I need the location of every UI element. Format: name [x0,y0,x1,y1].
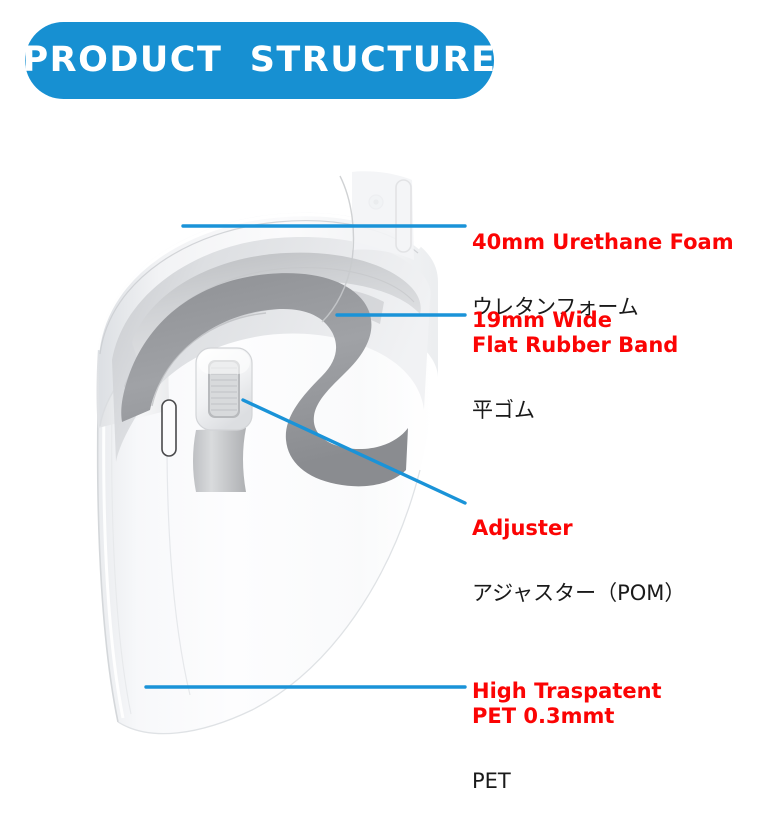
callout-foam-en: 40mm Urethane Foam [472,230,734,255]
title-banner: PRODUCT STRUCTURE [25,22,494,99]
callout-pet-visor: High Traspatent PET 0.3mmt PET [472,643,662,820]
callout-pet-en: High Traspatent PET 0.3mmt [472,679,662,729]
callout-rubber-en: 19mm Wide Flat Rubber Band [472,308,678,358]
product-structure-page: PRODUCT STRUCTURE [0,0,772,820]
face-shield-illustration [0,110,500,770]
callout-flat-rubber-band: 19mm Wide Flat Rubber Band 平ゴム [472,272,678,461]
callout-adjuster: Adjuster アジャスター（POM） [472,480,685,644]
slot-left [162,400,176,456]
adjuster-buckle[interactable] [196,348,252,430]
callout-pet-jp: PET [472,767,662,796]
callout-rubber-jp: 平ゴム [472,396,678,425]
page-title: PRODUCT STRUCTURE [22,43,496,78]
callout-adjuster-jp: アジャスター（POM） [472,579,685,608]
callout-adjuster-en: Adjuster [472,516,685,541]
